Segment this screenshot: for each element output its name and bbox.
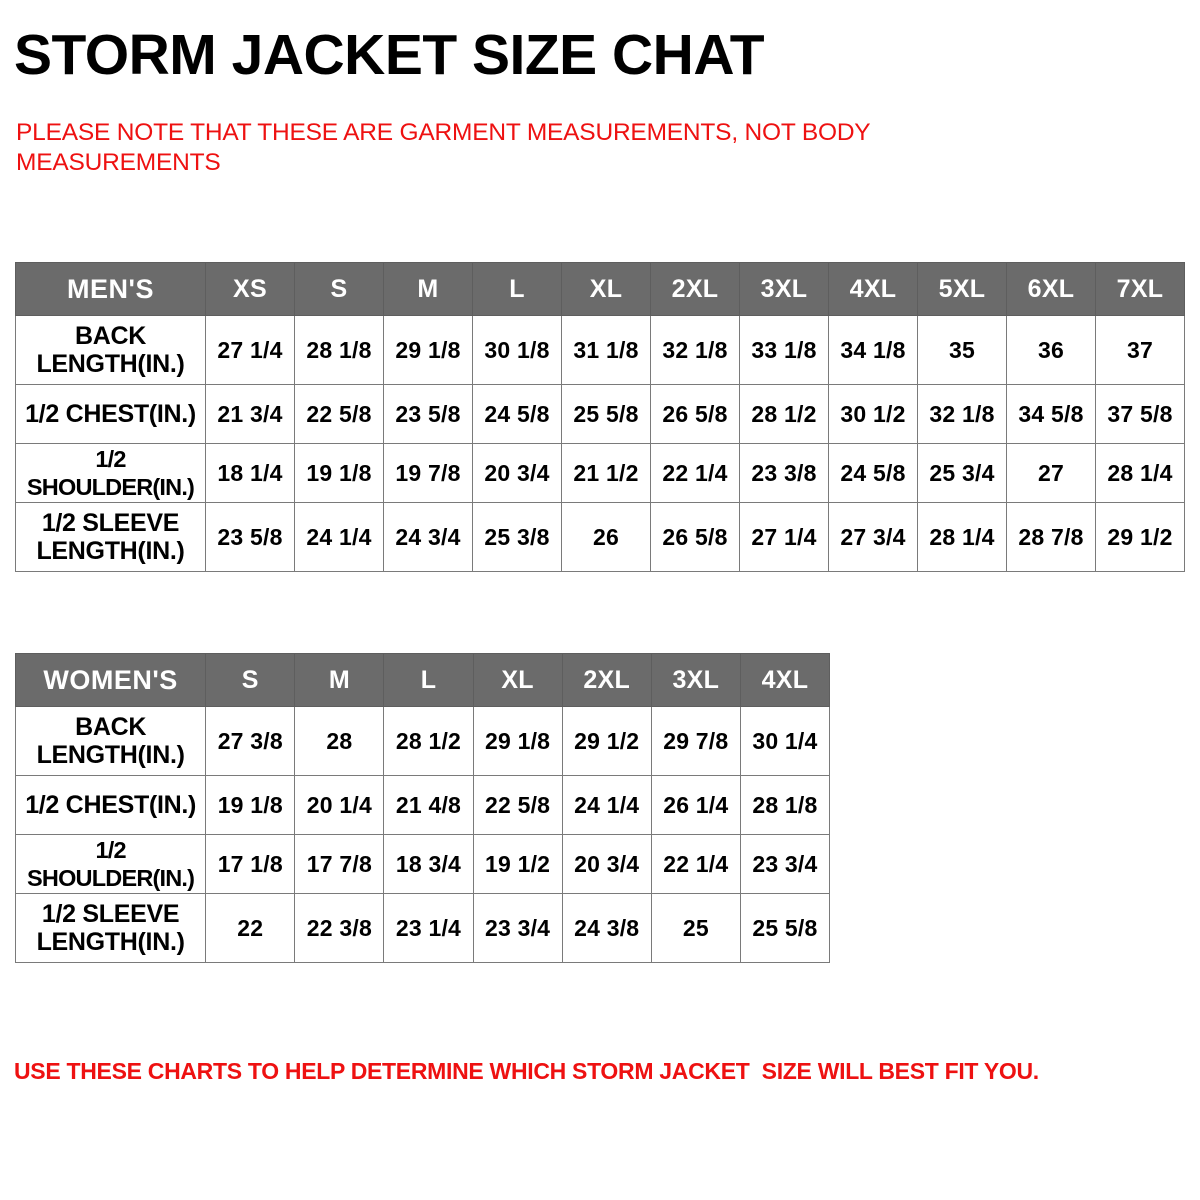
measurement-cell: 33 1/8 bbox=[740, 316, 829, 385]
measurement-cell: 26 1/4 bbox=[651, 776, 740, 835]
measurement-cell: 31 1/8 bbox=[562, 316, 651, 385]
mens-row-label: BACK LENGTH(IN.) bbox=[16, 316, 206, 385]
table-row: BACK LENGTH(IN.)27 1/428 1/829 1/830 1/8… bbox=[16, 316, 1185, 385]
measurement-cell: 23 3/4 bbox=[740, 835, 829, 894]
womens-size-table: WOMEN'SSMLXL2XL3XL4XL BACK LENGTH(IN.)27… bbox=[15, 653, 830, 963]
measurement-cell: 19 7/8 bbox=[384, 444, 473, 503]
womens-size-header-l: L bbox=[384, 654, 473, 707]
measurement-cell: 24 3/4 bbox=[384, 503, 473, 572]
mens-table-body: BACK LENGTH(IN.)27 1/428 1/829 1/830 1/8… bbox=[16, 316, 1185, 572]
measurement-cell: 24 1/4 bbox=[562, 776, 651, 835]
measurement-cell: 28 1/2 bbox=[740, 385, 829, 444]
mens-row-label: 1/2 SHOULDER(IN.) bbox=[16, 444, 206, 503]
measurement-cell: 26 5/8 bbox=[651, 385, 740, 444]
measurement-cell: 23 3/8 bbox=[740, 444, 829, 503]
measurement-cell: 24 5/8 bbox=[829, 444, 918, 503]
usage-note: USE THESE CHARTS TO HELP DETERMINE WHICH… bbox=[14, 1057, 1039, 1085]
mens-size-header-m: M bbox=[384, 263, 473, 316]
measurement-cell: 29 1/8 bbox=[473, 707, 562, 776]
measurement-cell: 22 5/8 bbox=[295, 385, 384, 444]
womens-row-label: 1/2 CHEST(IN.) bbox=[16, 776, 206, 835]
measurement-cell: 23 3/4 bbox=[473, 894, 562, 963]
measurement-cell: 28 1/8 bbox=[295, 316, 384, 385]
womens-corner-label: WOMEN'S bbox=[16, 654, 206, 707]
measurement-cell: 28 1/8 bbox=[740, 776, 829, 835]
measurement-cell: 20 3/4 bbox=[562, 835, 651, 894]
womens-size-header-m: M bbox=[295, 654, 384, 707]
measurement-cell: 29 1/2 bbox=[562, 707, 651, 776]
measurement-cell: 23 1/4 bbox=[384, 894, 473, 963]
table-row: 1/2 SLEEVE LENGTH(IN.)2222 3/823 1/423 3… bbox=[16, 894, 830, 963]
womens-table-body: BACK LENGTH(IN.)27 3/82828 1/229 1/829 1… bbox=[16, 707, 830, 963]
mens-size-header-s: S bbox=[295, 263, 384, 316]
womens-size-header-s: S bbox=[206, 654, 295, 707]
mens-size-header-7xl: 7XL bbox=[1096, 263, 1185, 316]
mens-row-label: 1/2 SLEEVE LENGTH(IN.) bbox=[16, 503, 206, 572]
measurement-cell: 17 1/8 bbox=[206, 835, 295, 894]
measurement-cell: 28 bbox=[295, 707, 384, 776]
measurement-cell: 22 5/8 bbox=[473, 776, 562, 835]
mens-size-header-l: L bbox=[473, 263, 562, 316]
measurement-cell: 30 1/4 bbox=[740, 707, 829, 776]
measurement-cell: 24 5/8 bbox=[473, 385, 562, 444]
mens-size-header-5xl: 5XL bbox=[918, 263, 1007, 316]
measurement-cell: 37 bbox=[1096, 316, 1185, 385]
measurement-cell: 25 5/8 bbox=[562, 385, 651, 444]
table-row: 1/2 CHEST(IN.)19 1/820 1/421 4/822 5/824… bbox=[16, 776, 830, 835]
measurement-cell: 26 5/8 bbox=[651, 503, 740, 572]
measurement-cell: 21 4/8 bbox=[384, 776, 473, 835]
table-row: 1/2 SHOULDER(IN.)17 1/817 7/818 3/419 1/… bbox=[16, 835, 830, 894]
measurement-cell: 24 3/8 bbox=[562, 894, 651, 963]
table-row: 1/2 CHEST(IN.)21 3/422 5/823 5/824 5/825… bbox=[16, 385, 1185, 444]
measurement-cell: 21 3/4 bbox=[206, 385, 295, 444]
measurement-cell: 17 7/8 bbox=[295, 835, 384, 894]
mens-size-header-xl: XL bbox=[562, 263, 651, 316]
measurement-cell: 22 1/4 bbox=[651, 835, 740, 894]
measurement-cell: 28 1/2 bbox=[384, 707, 473, 776]
measurement-cell: 28 1/4 bbox=[1096, 444, 1185, 503]
womens-size-header-xl: XL bbox=[473, 654, 562, 707]
measurement-cell: 18 1/4 bbox=[206, 444, 295, 503]
womens-size-header-4xl: 4XL bbox=[740, 654, 829, 707]
measurement-cell: 19 1/2 bbox=[473, 835, 562, 894]
womens-size-header-3xl: 3XL bbox=[651, 654, 740, 707]
mens-corner-label: MEN'S bbox=[16, 263, 206, 316]
measurement-cell: 18 3/4 bbox=[384, 835, 473, 894]
measurement-cell: 28 7/8 bbox=[1007, 503, 1096, 572]
mens-size-header-6xl: 6XL bbox=[1007, 263, 1096, 316]
measurement-cell: 25 bbox=[651, 894, 740, 963]
measurement-cell: 22 1/4 bbox=[651, 444, 740, 503]
measurement-cell: 21 1/2 bbox=[562, 444, 651, 503]
measurement-cell: 22 3/8 bbox=[295, 894, 384, 963]
measurement-cell: 22 bbox=[206, 894, 295, 963]
mens-table-head: MEN'SXSSMLXL2XL3XL4XL5XL6XL7XL bbox=[16, 263, 1185, 316]
measurement-cell: 32 1/8 bbox=[651, 316, 740, 385]
mens-size-table: MEN'SXSSMLXL2XL3XL4XL5XL6XL7XL BACK LENG… bbox=[15, 262, 1185, 572]
measurement-cell: 26 bbox=[562, 503, 651, 572]
measurement-cell: 20 1/4 bbox=[295, 776, 384, 835]
measurement-cell: 25 3/8 bbox=[473, 503, 562, 572]
womens-size-header-2xl: 2XL bbox=[562, 654, 651, 707]
measurement-cell: 34 1/8 bbox=[829, 316, 918, 385]
measurement-cell: 29 1/8 bbox=[384, 316, 473, 385]
measurement-cell: 29 1/2 bbox=[1096, 503, 1185, 572]
table-row: 1/2 SHOULDER(IN.)18 1/419 1/819 7/820 3/… bbox=[16, 444, 1185, 503]
measurement-cell: 37 5/8 bbox=[1096, 385, 1185, 444]
table-row: BACK LENGTH(IN.)27 3/82828 1/229 1/829 1… bbox=[16, 707, 830, 776]
mens-size-header-3xl: 3XL bbox=[740, 263, 829, 316]
measurement-cell: 28 1/4 bbox=[918, 503, 1007, 572]
measurement-cell: 24 1/4 bbox=[295, 503, 384, 572]
page-title: STORM JACKET SIZE CHAT bbox=[14, 24, 764, 86]
mens-size-header-xs: XS bbox=[206, 263, 295, 316]
measurement-cell: 30 1/2 bbox=[829, 385, 918, 444]
womens-row-label: 1/2 SHOULDER(IN.) bbox=[16, 835, 206, 894]
mens-row-label: 1/2 CHEST(IN.) bbox=[16, 385, 206, 444]
womens-row-label: 1/2 SLEEVE LENGTH(IN.) bbox=[16, 894, 206, 963]
measurement-cell: 35 bbox=[918, 316, 1007, 385]
womens-row-label: BACK LENGTH(IN.) bbox=[16, 707, 206, 776]
measurement-cell: 27 1/4 bbox=[206, 316, 295, 385]
measurement-cell: 27 1/4 bbox=[740, 503, 829, 572]
measurement-cell: 36 bbox=[1007, 316, 1096, 385]
garment-measurement-note: PLEASE NOTE THAT THESE ARE GARMENT MEASU… bbox=[16, 118, 966, 178]
measurement-cell: 23 5/8 bbox=[206, 503, 295, 572]
measurement-cell: 30 1/8 bbox=[473, 316, 562, 385]
measurement-cell: 19 1/8 bbox=[295, 444, 384, 503]
measurement-cell: 27 3/4 bbox=[829, 503, 918, 572]
measurement-cell: 19 1/8 bbox=[206, 776, 295, 835]
mens-size-header-4xl: 4XL bbox=[829, 263, 918, 316]
womens-table-head: WOMEN'SSMLXL2XL3XL4XL bbox=[16, 654, 830, 707]
measurement-cell: 29 7/8 bbox=[651, 707, 740, 776]
measurement-cell: 32 1/8 bbox=[918, 385, 1007, 444]
measurement-cell: 34 5/8 bbox=[1007, 385, 1096, 444]
measurement-cell: 23 5/8 bbox=[384, 385, 473, 444]
measurement-cell: 27 bbox=[1007, 444, 1096, 503]
measurement-cell: 27 3/8 bbox=[206, 707, 295, 776]
measurement-cell: 25 5/8 bbox=[740, 894, 829, 963]
measurement-cell: 25 3/4 bbox=[918, 444, 1007, 503]
mens-size-header-2xl: 2XL bbox=[651, 263, 740, 316]
measurement-cell: 20 3/4 bbox=[473, 444, 562, 503]
table-row: 1/2 SLEEVE LENGTH(IN.)23 5/824 1/424 3/4… bbox=[16, 503, 1185, 572]
